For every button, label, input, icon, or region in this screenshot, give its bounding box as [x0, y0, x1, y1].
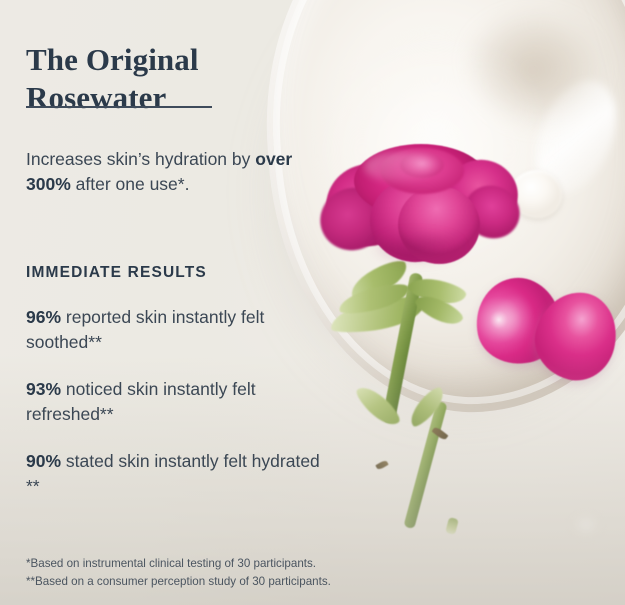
- title-divider: [26, 106, 212, 108]
- title-line-1: The Original: [26, 42, 199, 77]
- product-claim: Increases skin’s hydration by over 300% …: [26, 147, 326, 199]
- footnotes: *Based on instrumental clinical testing …: [26, 555, 456, 591]
- footnote-line-2: **Based on a consumer perception study o…: [26, 573, 456, 591]
- rosewater-ad-card: The OriginalRosewater Increases skin’s h…: [0, 0, 625, 605]
- list-item: 90% stated skin instantly felt hydrated …: [26, 449, 326, 499]
- results-heading: IMMEDIATE RESULTS: [26, 264, 207, 282]
- claim-part-1: Increases skin’s hydration by: [26, 149, 255, 169]
- title-line-2: Rosewater: [26, 80, 166, 115]
- ad-copy: The OriginalRosewater Increases skin’s h…: [0, 0, 625, 605]
- claim-part-2: after one use*.: [71, 174, 190, 194]
- stat-percent: 90%: [26, 451, 61, 471]
- stat-percent: 93%: [26, 379, 61, 399]
- stat-text: noticed skin instantly felt refreshed**: [26, 379, 256, 424]
- stat-text: stated skin instantly felt hydrated **: [26, 451, 320, 496]
- list-item: 96% reported skin instantly felt soothed…: [26, 305, 326, 355]
- list-item: 93% noticed skin instantly felt refreshe…: [26, 377, 326, 427]
- stat-text: reported skin instantly felt soothed**: [26, 307, 264, 352]
- footnote-line-1: *Based on instrumental clinical testing …: [26, 555, 456, 573]
- results-list: 96% reported skin instantly felt soothed…: [26, 287, 326, 522]
- stat-percent: 96%: [26, 307, 61, 327]
